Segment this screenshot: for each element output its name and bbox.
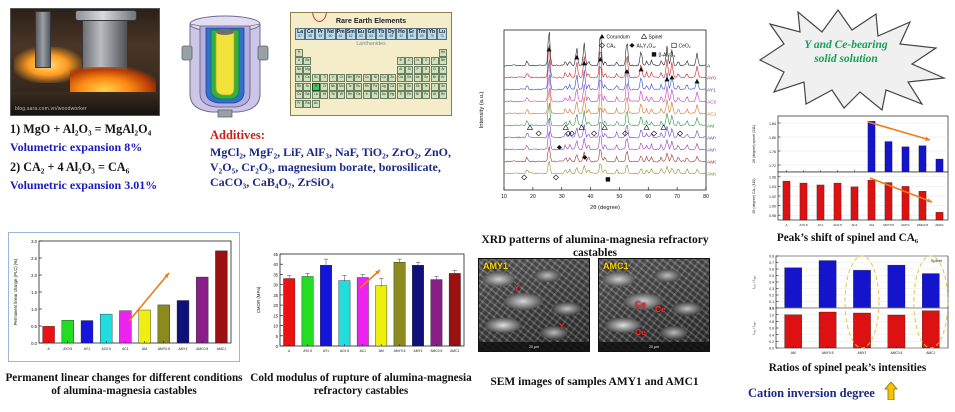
element-cell: Ar — [439, 66, 447, 74]
bar — [800, 183, 807, 220]
element-cell: Ba — [303, 91, 311, 99]
sem-images-panel: AMY1 Y Y 20 µm AMC1 Ce Ce Ce 20 µm — [478, 258, 710, 362]
bar — [936, 159, 943, 172]
grid-spacer — [405, 49, 413, 57]
element-cell: Rn — [439, 91, 447, 99]
element-cell: K — [295, 74, 303, 82]
element-cell: Gd64 — [366, 28, 376, 40]
grid-spacer — [371, 49, 379, 57]
element-cell: Tb65 — [376, 28, 386, 40]
bar — [449, 273, 460, 346]
svg-text:2.5: 2.5 — [31, 256, 37, 261]
element-cell: Au — [380, 91, 388, 99]
element-cell: Zr — [320, 83, 328, 91]
element-cell: C — [405, 57, 413, 65]
element-cell: Mg — [303, 66, 311, 74]
svg-text:AY1: AY1 — [84, 347, 90, 351]
svg-text:0.0: 0.0 — [31, 341, 37, 346]
element-cell: I — [431, 83, 439, 91]
element-cell: Sb — [414, 83, 422, 91]
cmor-caption: Cold modulus of rupture of alumina-magne… — [248, 372, 474, 398]
element-cell: Po — [422, 91, 430, 99]
svg-text:20: 20 — [530, 194, 536, 200]
grid-spacer — [414, 49, 422, 57]
grid-spacer — [380, 100, 388, 108]
bar — [339, 281, 350, 346]
plc-caption: Permanent linear changes for different c… — [4, 372, 244, 398]
element-cell: O — [422, 57, 430, 65]
plc-chart: 0.00.51.01.52.02.53.0AAY0.5AY1AC0.5AC1AM… — [8, 232, 240, 362]
bar — [922, 311, 939, 348]
grid-spacer — [397, 49, 405, 57]
svg-text:AMY0.5: AMY0.5 — [883, 223, 894, 227]
svg-text:AMY1: AMY1 — [414, 349, 423, 353]
svg-text:Spinel: Spinel — [649, 35, 663, 41]
grid-spacer — [320, 66, 328, 74]
svg-text:0.0: 0.0 — [769, 347, 774, 351]
xrd-series-label: A — [707, 64, 711, 70]
element-cell: Si — [405, 66, 413, 74]
svg-text:AMC1: AMC1 — [935, 223, 944, 227]
svg-text:AM: AM — [142, 347, 147, 351]
bar — [819, 312, 836, 348]
lanthanide-series-label: Lanthanides — [291, 41, 451, 47]
solid-solution-line-1: Y and Ce-bearing — [740, 38, 952, 52]
element-cell: Cs — [295, 91, 303, 99]
expansion-1: Volumetric expansion 8% — [10, 140, 205, 155]
element-cell: V — [329, 74, 337, 82]
element-cell: P — [414, 66, 422, 74]
element-cell: Ho67 — [396, 28, 406, 40]
svg-text:β-Al₂O₃: β-Al₂O₃ — [659, 53, 676, 59]
xrd-panel: 10203040506070802θ (degree)Intensity (a.… — [468, 8, 722, 258]
sem-scale-text-amy1: 20 µm — [529, 345, 539, 349]
grid-spacer — [312, 66, 320, 74]
bar — [922, 274, 939, 308]
bar — [936, 212, 943, 220]
expansion-2: Volumetric expansion 3.01% — [10, 178, 205, 193]
svg-text:70: 70 — [674, 194, 680, 200]
sem-image-amy1: AMY1 Y Y 20 µm — [478, 258, 590, 352]
svg-text:2θ (degree) CA₆ (110): 2θ (degree) CA₆ (110) — [752, 178, 756, 213]
bar — [851, 187, 858, 220]
element-cell: Lu71 — [437, 28, 447, 40]
bar — [43, 326, 55, 343]
element-cell: Te — [422, 83, 430, 91]
svg-text:50: 50 — [617, 194, 623, 200]
svg-text:2.0: 2.0 — [31, 273, 37, 278]
svg-text:AMC0.5: AMC0.5 — [890, 351, 902, 355]
svg-text:0.7: 0.7 — [769, 261, 774, 265]
grid-spacer — [363, 66, 371, 74]
grid-spacer — [346, 100, 354, 108]
svg-text:0.8: 0.8 — [769, 320, 774, 324]
element-cell: Bi — [414, 91, 422, 99]
svg-text:1.0: 1.0 — [769, 313, 774, 317]
svg-text:A: A — [47, 347, 50, 351]
element-cell: Fr — [295, 100, 303, 108]
svg-text:25: 25 — [273, 293, 278, 298]
additives-list-block: Additives: MgCl₂, MgF₂, LiF, AlF₃, NaF, … — [210, 128, 460, 228]
element-cell: Se — [422, 74, 430, 82]
bar — [853, 270, 870, 308]
svg-text:40: 40 — [273, 262, 278, 267]
element-cell: Ga — [397, 74, 405, 82]
sem-mark-ce-3: Ce — [635, 327, 646, 337]
solid-solution-line-2: solid solution — [740, 52, 952, 66]
element-cell: Al — [397, 66, 405, 74]
up-arrow-icon — [884, 382, 898, 404]
grid-spacer — [346, 66, 354, 74]
grid-spacer — [380, 66, 388, 74]
svg-text:1.06: 1.06 — [769, 176, 776, 180]
svg-text:AMC1: AMC1 — [217, 347, 227, 351]
bar — [215, 251, 227, 343]
svg-text:AY1: AY1 — [323, 349, 329, 353]
svg-text:1.04: 1.04 — [769, 185, 776, 189]
element-cell: Na — [295, 66, 303, 74]
svg-text:AY1: AY1 — [818, 223, 824, 227]
svg-text:AC1: AC1 — [851, 223, 857, 227]
svg-text:0.2: 0.2 — [769, 340, 774, 344]
element-cell: Sn — [405, 83, 413, 91]
intensity-ratios-chart: 0.00.10.20.30.40.50.60.70.8I₂₂₀ / I₄₄₀Sp… — [748, 252, 953, 362]
element-cell: Y — [312, 83, 320, 91]
grid-spacer — [329, 100, 337, 108]
svg-text:1.5: 1.5 — [31, 290, 37, 295]
grid-spacer — [329, 57, 337, 65]
svg-text:AY0.5: AY0.5 — [303, 349, 312, 353]
solid-solution-text: Y and Ce-bearing solid solution — [740, 38, 952, 67]
svg-text:AMC1: AMC1 — [926, 351, 935, 355]
sem-mark-ce-2: Ce — [655, 304, 666, 314]
element-cell: Ir — [363, 91, 371, 99]
svg-text:A: A — [785, 223, 788, 227]
grid-spacer — [354, 100, 362, 108]
rare-earth-periodic-table: Rare Earth Elements La57 Ce58 Pr59 Nd60 … — [290, 12, 452, 116]
grid-spacer — [346, 49, 354, 57]
element-cell: Rb — [295, 83, 303, 91]
svg-text:5: 5 — [276, 334, 279, 339]
steel-ladle-furnace-photo: blog.sara.com.vn/woodworker — [10, 8, 160, 116]
bar — [888, 315, 905, 348]
bar — [196, 277, 208, 343]
sem-scale-text-amc1: 20 µm — [649, 345, 659, 349]
element-cell: S — [422, 66, 430, 74]
sem-mark-y-1: Y — [514, 283, 520, 293]
grid-spacer — [388, 57, 396, 65]
svg-text:20: 20 — [273, 303, 278, 308]
bar — [139, 310, 151, 343]
svg-text:Corundum: Corundum — [607, 35, 630, 41]
element-cell: Pt — [371, 91, 379, 99]
svg-text:0: 0 — [276, 344, 279, 349]
xrd-series-label: AC1 — [707, 112, 716, 118]
reaction-2: 2) CA₂ + 4 Al₂O₃ = CA₆ — [10, 160, 205, 175]
grid-spacer — [320, 57, 328, 65]
grid-spacer — [363, 57, 371, 65]
element-cell: In — [397, 83, 405, 91]
grid-spacer — [439, 100, 447, 108]
svg-text:2θ (degree): 2θ (degree) — [590, 205, 620, 211]
svg-text:AC0.5: AC0.5 — [833, 223, 842, 227]
bar — [919, 146, 926, 172]
element-cell: Cu — [380, 74, 388, 82]
svg-text:0.4: 0.4 — [769, 333, 774, 337]
grid-spacer — [422, 100, 430, 108]
bar — [158, 305, 170, 343]
grid-spacer — [371, 57, 379, 65]
ladle-cross-section-diagram — [170, 6, 280, 118]
svg-text:15: 15 — [273, 313, 278, 318]
element-cell: Cd — [388, 83, 396, 91]
grid-spacer — [388, 100, 396, 108]
sem-scalebar-amc1: 20 µm — [599, 342, 709, 351]
svg-text:1.2: 1.2 — [769, 307, 774, 311]
element-cell: Ru — [354, 83, 362, 91]
grid-spacer — [380, 57, 388, 65]
bar — [868, 180, 875, 220]
element-cell: B — [397, 57, 405, 65]
bar — [81, 321, 93, 343]
element-cell: Cl — [431, 66, 439, 74]
element-cell: As — [414, 74, 422, 82]
additives-list: MgCl₂, MgF₂, LiF, AlF₃, NaF, TiO₂, ZrO₂,… — [210, 145, 460, 190]
element-cell: Li — [295, 57, 303, 65]
xrd-series-label: AC0.5 — [707, 100, 716, 106]
cmor-chart: 051015202530354045AAY0.5AY1AC0.5AC1AMAMY… — [252, 246, 470, 362]
element-cell: Xe — [439, 83, 447, 91]
grid-spacer — [312, 49, 320, 57]
svg-text:AY0.5: AY0.5 — [799, 223, 807, 227]
element-cell: Sm62 — [346, 28, 356, 40]
svg-text:AMY1: AMY1 — [858, 351, 867, 355]
grid-spacer — [320, 100, 328, 108]
element-cell: Be — [303, 57, 311, 65]
grid-spacer — [337, 66, 345, 74]
element-cell: La — [312, 91, 320, 99]
cation-inversion-row: Cation inversion degree — [748, 382, 953, 404]
element-cell: Pb — [405, 91, 413, 99]
svg-text:1.02: 1.02 — [769, 195, 776, 199]
element-cell: Ra — [303, 100, 311, 108]
grid-spacer — [431, 49, 439, 57]
element-cell: Nd60 — [325, 28, 335, 40]
solid-solution-callout: Y and Ce-bearing solid solution — [740, 8, 952, 112]
element-cell: Sc — [312, 74, 320, 82]
element-cell: Fe — [354, 74, 362, 82]
bar — [919, 191, 926, 220]
bar — [394, 262, 405, 346]
bar — [177, 301, 189, 344]
sem-mark-ce-1: Ce — [635, 299, 646, 309]
element-cell: Ni — [371, 74, 379, 82]
xrd-series-label: AM — [707, 124, 714, 130]
element-cell: Kr — [439, 74, 447, 82]
svg-text:CeO₂: CeO₂ — [679, 44, 691, 50]
grid-spacer — [303, 49, 311, 57]
element-cell: Ge — [405, 74, 413, 82]
svg-text:AMY0.5: AMY0.5 — [158, 347, 170, 351]
svg-text:0.3: 0.3 — [769, 287, 774, 291]
reaction-1: 1) MgO + Al₂O₃ = MgAl₂O₄ — [10, 122, 205, 137]
grid-spacer — [363, 100, 371, 108]
bar — [868, 121, 875, 172]
element-cell: Mo — [337, 83, 345, 91]
grid-spacer — [405, 100, 413, 108]
cation-inversion-label: Cation inversion degree — [748, 386, 875, 400]
svg-text:30: 30 — [559, 194, 565, 200]
svg-text:AC1: AC1 — [360, 349, 367, 353]
element-cell: Dy66 — [386, 28, 396, 40]
svg-text:30: 30 — [273, 283, 278, 288]
bar — [412, 265, 423, 346]
svg-text:AMC0.5: AMC0.5 — [917, 223, 928, 227]
svg-text:AC1: AC1 — [122, 347, 129, 351]
element-cell: Re — [346, 91, 354, 99]
element-cell: Co — [363, 74, 371, 82]
bar — [283, 279, 294, 346]
element-cell: Os — [354, 91, 362, 99]
element-cell: Pr59 — [315, 28, 325, 40]
element-cell: Ne — [439, 57, 447, 65]
grid-spacer — [312, 57, 320, 65]
sem-image-amc1: AMC1 Ce Ce Ce 20 µm — [598, 258, 710, 352]
svg-text:0.5: 0.5 — [31, 324, 37, 329]
grid-spacer — [337, 57, 345, 65]
svg-text:1.00: 1.00 — [769, 204, 776, 208]
element-cell: F — [431, 57, 439, 65]
bar — [100, 314, 112, 343]
element-cell: Nb — [329, 83, 337, 91]
svg-text:0.98: 0.98 — [769, 214, 776, 218]
grid-spacer — [329, 66, 337, 74]
element-cell: Tl — [397, 91, 405, 99]
grid-spacer — [363, 49, 371, 57]
bar — [834, 183, 841, 220]
grid-spacer — [354, 57, 362, 65]
bar — [902, 147, 909, 172]
element-cell: Ta — [329, 91, 337, 99]
svg-text:AY0.5: AY0.5 — [63, 347, 72, 351]
svg-text:0.6: 0.6 — [769, 268, 774, 272]
svg-text:AMY0.5: AMY0.5 — [394, 349, 406, 353]
grid-spacer — [354, 49, 362, 57]
sem-mark-y-2: Y — [559, 321, 565, 331]
xrd-series-label: AMC0.5 — [707, 160, 716, 166]
element-cell: Tm69 — [417, 28, 427, 40]
svg-text:80: 80 — [703, 194, 709, 200]
photo-watermark: blog.sara.com.vn/woodworker — [15, 106, 87, 112]
xrd-series-label: AMY1 — [707, 148, 716, 154]
element-cell: Hf — [320, 91, 328, 99]
element-cell: He — [439, 49, 447, 57]
element-cell: La57 — [295, 28, 305, 40]
graphical-abstract-poster: blog.sara.com.vn/woodworker — [0, 0, 955, 412]
bar — [302, 276, 313, 346]
lanthanide-row: La57 Ce58 Pr59 Nd60 Pm61 Sm62 Eu63 Gd64 … — [295, 28, 447, 40]
svg-text:0.1: 0.1 — [769, 300, 774, 304]
sem-label-amy1: AMY1 — [483, 261, 508, 271]
element-cell: Cr — [337, 74, 345, 82]
periodic-table-main-grid: HHeLiBeBCNOFNeNaMgAlSiPSClArKCaScTiVCrMn… — [295, 49, 447, 101]
bar — [785, 315, 802, 348]
element-cell: Sr — [303, 83, 311, 91]
xrd-series-label: AMY0.5 — [707, 136, 716, 142]
svg-text:1.80: 1.80 — [769, 136, 776, 140]
grid-spacer — [354, 66, 362, 74]
bar — [885, 183, 892, 220]
svg-text:10: 10 — [273, 324, 278, 329]
bar — [431, 280, 442, 346]
element-cell: N — [414, 57, 422, 65]
svg-text:1.0: 1.0 — [31, 307, 37, 312]
grid-spacer — [388, 66, 396, 74]
svg-text:0.5: 0.5 — [769, 274, 774, 278]
svg-text:Al₅Y₃O₁₂: Al₅Y₃O₁₂ — [637, 44, 656, 50]
grid-spacer — [346, 57, 354, 65]
svg-text:AMY1: AMY1 — [901, 223, 910, 227]
element-cell: Ag — [380, 83, 388, 91]
svg-text:3.0: 3.0 — [31, 239, 37, 244]
element-cell: Er68 — [407, 28, 417, 40]
element-cell: Eu63 — [356, 28, 366, 40]
svg-text:10: 10 — [501, 194, 507, 200]
svg-text:AC0.5: AC0.5 — [340, 349, 349, 353]
grid-spacer — [397, 100, 405, 108]
svg-text:AMY0.5: AMY0.5 — [822, 351, 834, 355]
svg-text:0.6: 0.6 — [769, 327, 774, 331]
svg-text:CA₆: CA₆ — [607, 44, 616, 50]
svg-text:2θ (degree) spinel (311): 2θ (degree) spinel (311) — [752, 125, 756, 163]
element-cell: Ti — [320, 74, 328, 82]
svg-text:AMC0.5: AMC0.5 — [430, 349, 442, 353]
element-cell: Ca — [303, 74, 311, 82]
reaction-equations: 1) MgO + Al₂O₃ = MgAl₂O₄ Volumetric expa… — [10, 122, 205, 222]
element-cell: Yb70 — [427, 28, 437, 40]
svg-text:A: A — [288, 349, 291, 353]
bar — [62, 320, 74, 343]
bar — [819, 261, 836, 308]
svg-text:AM: AM — [379, 349, 384, 353]
svg-text:I₂₂₀ / I₄₄₀: I₂₂₀ / I₄₄₀ — [752, 275, 756, 289]
element-cell: Mn — [346, 74, 354, 82]
svg-text:AMY1: AMY1 — [178, 347, 187, 351]
bar — [888, 265, 905, 308]
element-cell: W — [337, 91, 345, 99]
grid-spacer — [388, 49, 396, 57]
svg-text:45: 45 — [273, 252, 278, 257]
svg-text:Intensity (a.u.): Intensity (a.u.) — [479, 92, 485, 129]
grid-spacer — [422, 49, 430, 57]
element-cell: At — [431, 91, 439, 99]
xrd-series-label: AY0.5 — [707, 76, 716, 82]
element-cell: Tc — [346, 83, 354, 91]
additives-heading: Additives: — [210, 128, 460, 143]
element-cell: Zn — [388, 74, 396, 82]
bar — [357, 278, 368, 346]
svg-text:1.72: 1.72 — [769, 164, 776, 168]
peak-shift-chart: 1.721.761.801.842θ (degree) spinel (311)… — [748, 112, 953, 240]
svg-text:1.76: 1.76 — [769, 150, 776, 154]
peak-shift-caption: Peak’s shift of spinel and CA₆ — [740, 232, 955, 245]
element-cell: H — [295, 49, 303, 57]
svg-text:0.2: 0.2 — [769, 294, 774, 298]
svg-text:AC0.5: AC0.5 — [101, 347, 111, 351]
svg-text:35: 35 — [273, 272, 278, 277]
ratios-caption: Ratios of spinel peak’s intensities — [740, 362, 955, 375]
bar — [785, 268, 802, 308]
